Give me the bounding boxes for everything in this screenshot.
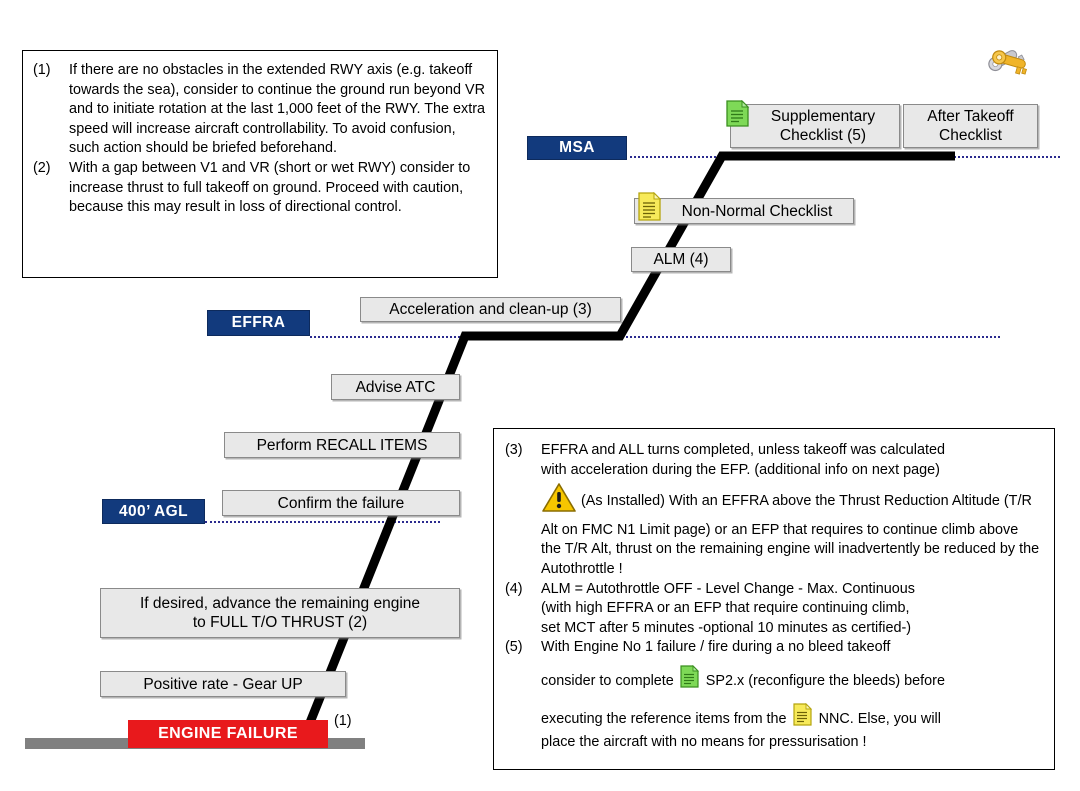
box-advise-atc[interactable]: Advise ATC: [331, 374, 460, 400]
note-item-4-line1: ALM = Autothrottle OFF - Level Change - …: [541, 580, 1042, 600]
box-acceleration-cleanup[interactable]: Acceleration and clean-up (3): [360, 297, 621, 322]
note-item-5-line3-pre: executing the reference items from the: [541, 711, 787, 727]
engine-failure-label: ENGINE FAILURE: [158, 725, 298, 743]
agl400-reference-line: [205, 521, 440, 523]
alm-label: ALM (4): [653, 250, 708, 269]
badge-400-agl: 400’ AGL: [102, 499, 205, 524]
supplementary-checklist-line1: Supplementary: [771, 107, 875, 126]
perform-recall-items-label: Perform RECALL ITEMS: [257, 436, 428, 455]
note-item-1-text: If there are no obstacles in the extende…: [69, 61, 485, 159]
non-normal-checklist-label: Non-Normal Checklist: [682, 202, 833, 221]
keys-icon: [984, 34, 1040, 82]
note-item-5-line1: With Engine No 1 failure / fire during a…: [541, 638, 1042, 658]
supplementary-checklist-line2: Checklist (5): [780, 126, 866, 145]
procedure-diagram-page: (1) If there are no obstacles in the ext…: [0, 0, 1080, 791]
note-item-5-line3-post: NNC. Else, you will: [819, 711, 941, 727]
after-takeoff-checklist-line1: After Takeoff: [927, 107, 1013, 126]
note-item-1-number: (1): [33, 61, 69, 81]
effra-reference-line: [310, 336, 1000, 338]
after-takeoff-checklist-line2: Checklist: [939, 126, 1002, 145]
box-non-normal-checklist[interactable]: Non-Normal Checklist: [634, 198, 854, 224]
box-confirm-failure[interactable]: Confirm the failure: [222, 490, 460, 516]
note-item-3: (3) EFFRA and ALL turns completed, unles…: [505, 441, 1042, 580]
note-item-3-warning: (As Installed) With an EFFRA above the T…: [541, 482, 1042, 579]
box-alm[interactable]: ALM (4): [631, 247, 731, 272]
box-positive-rate-gear-up[interactable]: Positive rate - Gear UP: [100, 671, 346, 697]
note-box-bottom-right: (3) EFFRA and ALL turns completed, unles…: [493, 428, 1055, 770]
note-item-5-number: (5): [505, 638, 541, 658]
note-box-top-left: (1) If there are no obstacles in the ext…: [22, 50, 498, 278]
green-document-icon: [726, 100, 750, 128]
note-item-5-line4: place the aircraft with no means for pre…: [541, 733, 1042, 753]
badge-effra-label: EFFRA: [232, 314, 286, 332]
full-to-thrust-line1: If desired, advance the remaining engine: [140, 594, 420, 613]
note-item-3-warning-text: (As Installed) With an EFFRA above the T…: [541, 493, 1039, 577]
note-item-3-line1: EFFRA and ALL turns completed, unless ta…: [541, 441, 1042, 461]
confirm-failure-label: Confirm the failure: [278, 494, 405, 513]
acceleration-cleanup-label: Acceleration and clean-up (3): [389, 300, 591, 319]
box-full-to-thrust[interactable]: If desired, advance the remaining engine…: [100, 588, 460, 638]
msa-reference-line: [630, 156, 1060, 158]
yellow-document-icon-inline: [793, 703, 813, 734]
note-item-4-line2: (with high EFFRA or an EFP that require …: [541, 599, 1042, 619]
note-item-1: (1) If there are no obstacles in the ext…: [33, 61, 485, 159]
badge-msa-label: MSA: [559, 139, 595, 157]
engine-failure-footnote: (1): [334, 713, 352, 729]
note-item-5-line2-pre: consider to complete: [541, 673, 674, 689]
box-perform-recall-items[interactable]: Perform RECALL ITEMS: [224, 432, 460, 458]
full-to-thrust-line2: to FULL T/O THRUST (2): [193, 613, 367, 632]
badge-msa: MSA: [527, 136, 627, 160]
note-item-4-number: (4): [505, 580, 541, 600]
note-item-5-line3: executing the reference items from the: [541, 703, 1042, 734]
note-item-2-text: With a gap between V1 and VR (short or w…: [69, 159, 485, 218]
note-item-2: (2) With a gap between V1 and VR (short …: [33, 159, 485, 218]
box-supplementary-checklist[interactable]: Supplementary Checklist (5): [730, 104, 900, 148]
note-item-3-number: (3): [505, 441, 541, 461]
badge-400-agl-label: 400’ AGL: [119, 503, 188, 521]
note-item-5: (5) With Engine No 1 failure / fire duri…: [505, 638, 1042, 752]
note-item-4: (4) ALM = Autothrottle OFF - Level Chang…: [505, 580, 1042, 639]
engine-failure-banner: ENGINE FAILURE: [128, 720, 328, 748]
green-document-icon-inline: [680, 665, 700, 696]
note-item-2-number: (2): [33, 159, 69, 179]
box-after-takeoff-checklist[interactable]: After Takeoff Checklist: [903, 104, 1038, 148]
badge-effra: EFFRA: [207, 310, 310, 336]
advise-atc-label: Advise ATC: [356, 378, 436, 397]
positive-rate-gear-up-label: Positive rate - Gear UP: [143, 675, 302, 694]
warning-triangle-icon: [541, 482, 577, 521]
note-item-5-line2: consider to complete: [541, 665, 1042, 696]
note-item-5-line2-post: SP2.x (reconfigure the bleeds) before: [706, 673, 945, 689]
note-item-3-line2: with acceleration during the EFP. (addit…: [541, 461, 1042, 481]
yellow-document-icon: [638, 192, 662, 222]
note-item-4-line3: set MCT after 5 minutes -optional 10 min…: [541, 619, 1042, 639]
